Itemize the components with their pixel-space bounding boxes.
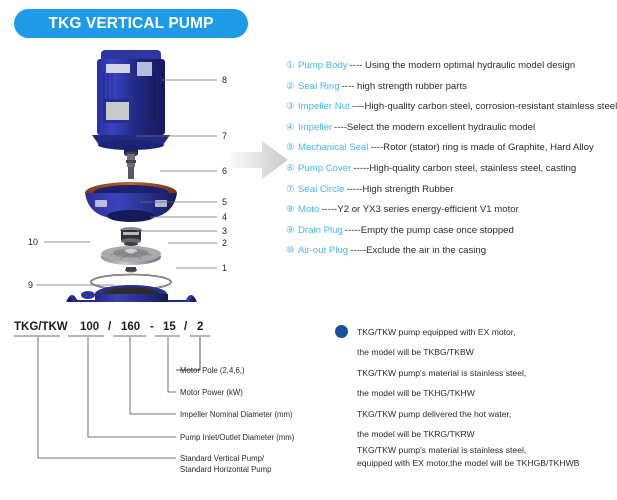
impeller-part (101, 246, 161, 265)
callout-4: 4 (222, 212, 227, 222)
legend-part-desc: -----Empty the pump case once stopped (345, 225, 514, 236)
legend-part-name: Drain Plug (298, 225, 343, 236)
model-segment-inlet: 100 (80, 321, 99, 333)
note-line: TKG/TKW pump's material is stainless ste… (357, 444, 617, 457)
legend-part-desc: ----High-quality carbon steel, corrosion… (352, 101, 617, 112)
legend-item: ④ Impeller ----Select the modern excelle… (286, 122, 617, 143)
model-annotation-pole: Motor Pole (2,4,6,) (180, 366, 245, 375)
legend-part-desc: -----Exclude the air in the casing (350, 245, 486, 256)
page-title-banner: TKG VERTICAL PUMP (14, 9, 248, 38)
legend-item: ⑨ Drain Plug -----Empty the pump case on… (286, 225, 617, 246)
legend-part-desc: ---- Using the modern optimal hydraulic … (350, 60, 576, 71)
model-segment-pole: 2 (197, 321, 203, 333)
legend-item: ① Pump Body ---- Using the modern optima… (286, 60, 617, 81)
callout-5: 5 (222, 197, 227, 207)
callout-2: 2 (222, 238, 227, 248)
callout-1: 1 (222, 263, 227, 273)
callout-7: 7 (222, 131, 227, 141)
note-line: TKG/TKW pump equipped with EX motor, (357, 322, 617, 342)
legend-part-name: Seal Ring (298, 81, 340, 92)
legend-part-desc: -----Y2 or YX3 series energy-efficient V… (321, 204, 518, 215)
model-segment-prefix: TKG/TKW (14, 321, 68, 333)
bullet-dot-icon (335, 325, 348, 338)
model-annotation-impeller: Impeller Nominal Diameter (mm) (180, 410, 293, 419)
note-line: the model will be TKBG/TKBW (357, 342, 617, 362)
callout-leader-lines-left (36, 242, 115, 285)
motor-part (92, 50, 170, 150)
legend-number: ⑦ (286, 184, 298, 193)
mechanical-seal-part (120, 227, 142, 246)
parts-legend-list: ① Pump Body ---- Using the modern optima… (286, 60, 617, 266)
legend-part-name: Air-out Plug (298, 245, 348, 256)
legend-number: ② (286, 81, 298, 90)
model-annotation-inlet: Pump Inlet/Outlet Diameter (mm) (180, 433, 295, 442)
impeller-nut-part (125, 267, 137, 272)
legend-item: ③ Impeller Nut ----High-quality carbon s… (286, 101, 617, 122)
legend-part-desc: ----Rotor (stator) ring is made of Graph… (370, 142, 593, 153)
model-annotation-vertical: Standard Vertical Pump/ (180, 454, 265, 463)
note-line: equipped with EX motor,the model will be… (357, 457, 617, 470)
page-title: TKG VERTICAL PUMP (48, 15, 213, 33)
model-code-breakdown: TKG/TKW 100 / 160 - 15 / 2 (0, 306, 320, 500)
model-separator-1: / (108, 321, 112, 333)
legend-number: ④ (286, 122, 298, 131)
model-annotation-horizontal: Standard Horizontal Pump (180, 465, 272, 474)
legend-part-name: Mechanical Seal (298, 142, 368, 153)
model-leader-lines (38, 337, 200, 458)
model-separator-3: / (184, 321, 188, 333)
note-line: the model will be TKRG/TKRW (357, 424, 617, 444)
legend-number: ⑩ (286, 245, 298, 254)
legend-number: ③ (286, 101, 298, 110)
legend-part-desc: -----High-quality carbon steel, stainles… (353, 163, 576, 174)
callout-9: 9 (28, 280, 33, 290)
legend-part-desc: ----Select the modern excellent hydrauli… (334, 122, 535, 133)
legend-number: ⑤ (286, 142, 298, 151)
legend-item: ⑦ Seal Circle -----High strength Rubber (286, 184, 617, 205)
callout-6: 6 (222, 166, 227, 176)
legend-part-name: Seal Circle (298, 184, 344, 195)
legend-part-name: Impeller (298, 122, 332, 133)
seal-circle-part (124, 145, 138, 179)
note-line: TKG/TKW pump delivered the hot water, (357, 404, 617, 424)
callout-8: 8 (222, 75, 227, 85)
legend-part-name: Moto (298, 204, 319, 215)
model-segment-impeller: 160 (121, 321, 140, 333)
model-segment-power: 15 (163, 321, 176, 333)
legend-part-name: Pump Cover (298, 163, 351, 174)
callout-3: 3 (222, 226, 227, 236)
legend-part-desc: -----High strength Rubber (346, 184, 453, 195)
legend-item: ② Seal Ring ---- high strength rubber pa… (286, 81, 617, 102)
legend-item: ⑥ Pump Cover -----High-quality carbon st… (286, 163, 617, 184)
note-line: the model will be TKHG/TKHW (357, 383, 617, 403)
legend-item: ⑩ Air-out Plug -----Exclude the air in t… (286, 245, 617, 266)
note-line: TKG/TKW pump's material is stainless ste… (357, 363, 617, 383)
callout-10: 10 (28, 237, 38, 247)
model-annotation-power: Motor Power (kW) (180, 388, 243, 397)
legend-number: ⑥ (286, 163, 298, 172)
legend-number: ⑨ (286, 225, 298, 234)
right-arrow-icon (228, 138, 290, 182)
legend-part-desc: ---- high strength rubber parts (342, 81, 467, 92)
legend-item: ⑤ Mechanical Seal ----Rotor (stator) rin… (286, 142, 617, 163)
legend-number: ⑧ (286, 204, 298, 213)
legend-part-name: Impeller Nut (298, 101, 350, 112)
model-variant-notes: TKG/TKW pump equipped with EX motor, the… (335, 322, 617, 470)
legend-item: ⑧ Moto -----Y2 or YX3 series energy-effi… (286, 204, 617, 225)
legend-number: ① (286, 60, 298, 69)
legend-part-name: Pump Body (298, 60, 348, 71)
pump-body-part (65, 285, 198, 302)
model-separator-2: - (150, 321, 154, 333)
